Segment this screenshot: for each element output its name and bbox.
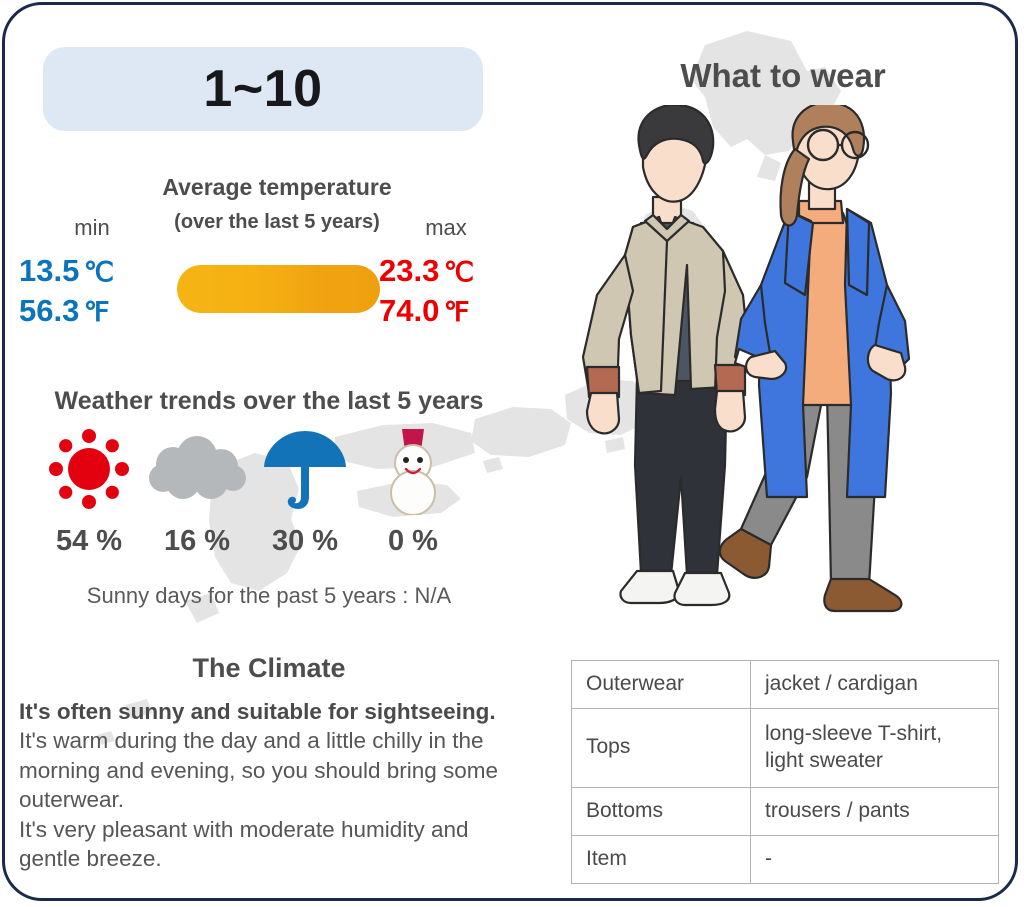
- snowman-icon: [376, 423, 450, 515]
- climate-paragraph-1: It's warm during the day and a little ch…: [19, 726, 523, 814]
- table-value-bottoms: trousers / pants: [751, 787, 999, 835]
- max-celsius-unit: ℃: [444, 257, 474, 287]
- average-temperature-heading: Average temperature (over the last 5 yea…: [139, 171, 415, 236]
- climate-paragraph-2: It's very pleasant with moderate humidit…: [19, 815, 523, 874]
- trend-value-sunny: 54 %: [56, 525, 122, 558]
- max-fahrenheit-value: 74.0: [379, 293, 439, 328]
- max-label: max: [391, 215, 501, 241]
- cloud-icon: [147, 423, 247, 515]
- table-value-item: -: [751, 835, 999, 883]
- min-fahrenheit-row: 56.3 ℉: [19, 291, 149, 331]
- sun-icon: [46, 423, 132, 515]
- weather-clothing-card: 1~10 Average temperature (over the last …: [2, 2, 1018, 901]
- female-figure: [720, 105, 909, 611]
- max-celsius-value: 23.3: [379, 253, 439, 288]
- male-figure: [583, 105, 749, 605]
- climate-title: The Climate: [19, 653, 519, 684]
- temperature-range-bar: [177, 265, 380, 313]
- min-celsius-unit: ℃: [84, 257, 114, 287]
- sunny-days-note: Sunny days for the past 5 years : N/A: [19, 583, 519, 609]
- trend-item-sunny: 54 %: [35, 423, 143, 558]
- period-label: 1~10: [203, 63, 322, 115]
- what-to-wear-title: What to wear: [545, 57, 1018, 95]
- max-fahrenheit-row: 74.0 ℉: [379, 291, 509, 331]
- trend-value-snowy: 0 %: [388, 525, 438, 558]
- table-row: Bottoms trousers / pants: [572, 787, 999, 835]
- min-label: min: [37, 215, 147, 241]
- umbrella-icon: [260, 423, 350, 515]
- table-row: Item -: [572, 835, 999, 883]
- max-celsius-row: 23.3 ℃: [379, 251, 509, 291]
- left-column: 1~10 Average temperature (over the last …: [5, 5, 545, 901]
- trend-value-rainy: 30 %: [272, 525, 338, 558]
- table-row: Tops long-sleeve T-shirt, light sweater: [572, 708, 999, 787]
- min-celsius-value: 13.5: [19, 253, 79, 288]
- min-fahrenheit-value: 56.3: [19, 293, 79, 328]
- weather-trends-title: Weather trends over the last 5 years: [19, 387, 519, 416]
- clothing-illustration: [575, 105, 1015, 645]
- table-row: Outerwear jacket / cardigan: [572, 661, 999, 709]
- min-temperature-values: 13.5 ℃ 56.3 ℉: [19, 251, 149, 332]
- period-badge: 1~10: [43, 47, 483, 131]
- weather-trends-row: 54 %: [35, 423, 505, 558]
- average-temperature-title: Average temperature: [162, 174, 391, 200]
- climate-lead: It's often sunny and suitable for sights…: [19, 697, 523, 726]
- max-fahrenheit-unit: ℉: [444, 297, 470, 327]
- table-key-tops: Tops: [572, 708, 751, 787]
- min-fahrenheit-unit: ℉: [84, 297, 110, 327]
- table-value-outerwear: jacket / cardigan: [751, 661, 999, 709]
- table-key-item: Item: [572, 835, 751, 883]
- trend-item-cloudy: 16 %: [143, 423, 251, 558]
- table-key-bottoms: Bottoms: [572, 787, 751, 835]
- max-temperature-values: 23.3 ℃ 74.0 ℉: [379, 251, 509, 332]
- right-column: What to wear: [545, 5, 1018, 901]
- min-celsius-row: 13.5 ℃: [19, 251, 149, 291]
- table-value-tops: long-sleeve T-shirt, light sweater: [751, 708, 999, 787]
- climate-description: It's often sunny and suitable for sights…: [19, 697, 523, 874]
- average-temperature-subtitle: (over the last 5 years): [174, 211, 380, 233]
- table-key-outerwear: Outerwear: [572, 661, 751, 709]
- trend-item-rainy: 30 %: [251, 423, 359, 558]
- trend-value-cloudy: 16 %: [164, 525, 230, 558]
- what-to-wear-table: Outerwear jacket / cardigan Tops long-sl…: [571, 660, 999, 884]
- trend-item-snowy: 0 %: [359, 423, 467, 558]
